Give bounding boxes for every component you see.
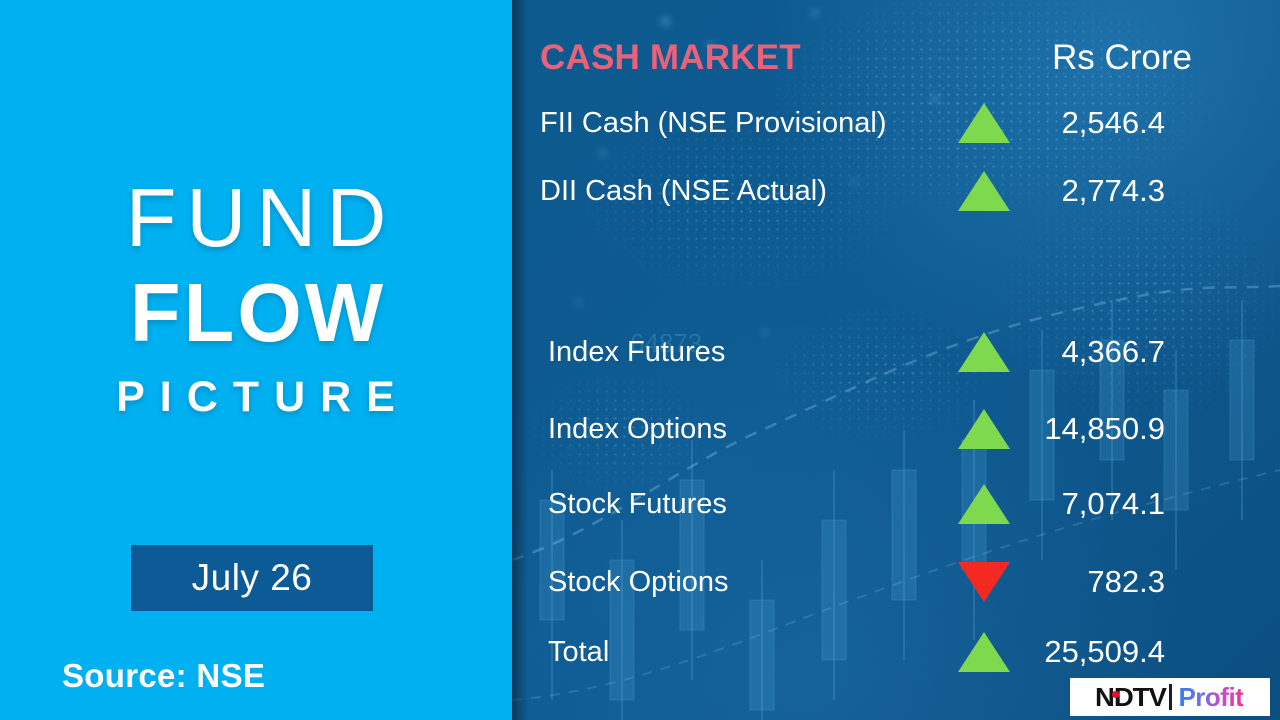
table-row: Total 25,509.4 <box>512 629 1280 675</box>
fund-flow-picture-graphic: 64873 FUND FLOW PICTURE July 26 Source: … <box>0 0 1280 720</box>
row-value: 7,074.1 <box>1024 481 1165 527</box>
fund-flow-picture-logo: FUND FLOW PICTURE <box>0 176 512 419</box>
brand-line-picture: PICTURE <box>0 376 512 419</box>
table-row: Index Futures 4,366.7 <box>512 329 1280 375</box>
row-value: 2,546.4 <box>1024 100 1165 146</box>
ndtv-wordmark: NDTV <box>1095 682 1166 713</box>
triangle-down-icon <box>954 559 1014 605</box>
table-row: Index Options 14,850.9 <box>512 406 1280 452</box>
triangle-up-icon <box>954 168 1014 214</box>
date-badge: July 26 <box>131 545 373 611</box>
ndtv-profit-logo: NDTV Profit <box>1070 678 1270 716</box>
triangle-up-icon <box>954 406 1014 452</box>
brand-line-flow: FLOW <box>0 271 512 354</box>
ndtv-text: NDTV <box>1095 682 1166 712</box>
row-label: FII Cash (NSE Provisional) <box>540 100 887 146</box>
triangle-up-icon <box>954 481 1014 527</box>
row-label: Index Options <box>548 406 727 452</box>
row-value: 2,774.3 <box>1024 168 1165 214</box>
triangle-up-icon <box>954 100 1014 146</box>
logo-divider <box>1169 684 1172 710</box>
row-value: 4,366.7 <box>1024 329 1165 375</box>
cash-market-table: CASH MARKET Rs Crore FII Cash (NSE Provi… <box>512 0 1280 720</box>
table-title: CASH MARKET <box>540 38 801 78</box>
ndtv-red-dot-icon <box>1112 691 1119 698</box>
table-row: DII Cash (NSE Actual) 2,774.3 <box>512 168 1280 214</box>
table-row: Stock Options 782.3 <box>512 559 1280 605</box>
row-label: Total <box>548 629 609 675</box>
row-label: Stock Options <box>548 559 729 605</box>
triangle-up-icon <box>954 329 1014 375</box>
source-label: Source: NSE <box>62 657 265 695</box>
row-label: DII Cash (NSE Actual) <box>540 168 827 214</box>
table-row: FII Cash (NSE Provisional) 2,546.4 <box>512 100 1280 146</box>
brand-panel: FUND FLOW PICTURE July 26 Source: NSE <box>0 0 512 720</box>
table-row: Stock Futures 7,074.1 <box>512 481 1280 527</box>
row-value: 782.3 <box>1024 559 1165 605</box>
row-label: Stock Futures <box>548 481 727 527</box>
profit-wordmark: Profit <box>1178 682 1243 713</box>
brand-line-fund: FUND <box>0 176 512 259</box>
row-value: 14,850.9 <box>1024 406 1165 452</box>
row-value: 25,509.4 <box>1024 629 1165 675</box>
date-label: July 26 <box>192 557 313 599</box>
row-label: Index Futures <box>548 329 725 375</box>
triangle-up-icon <box>954 629 1014 675</box>
unit-label: Rs Crore <box>1052 38 1192 78</box>
